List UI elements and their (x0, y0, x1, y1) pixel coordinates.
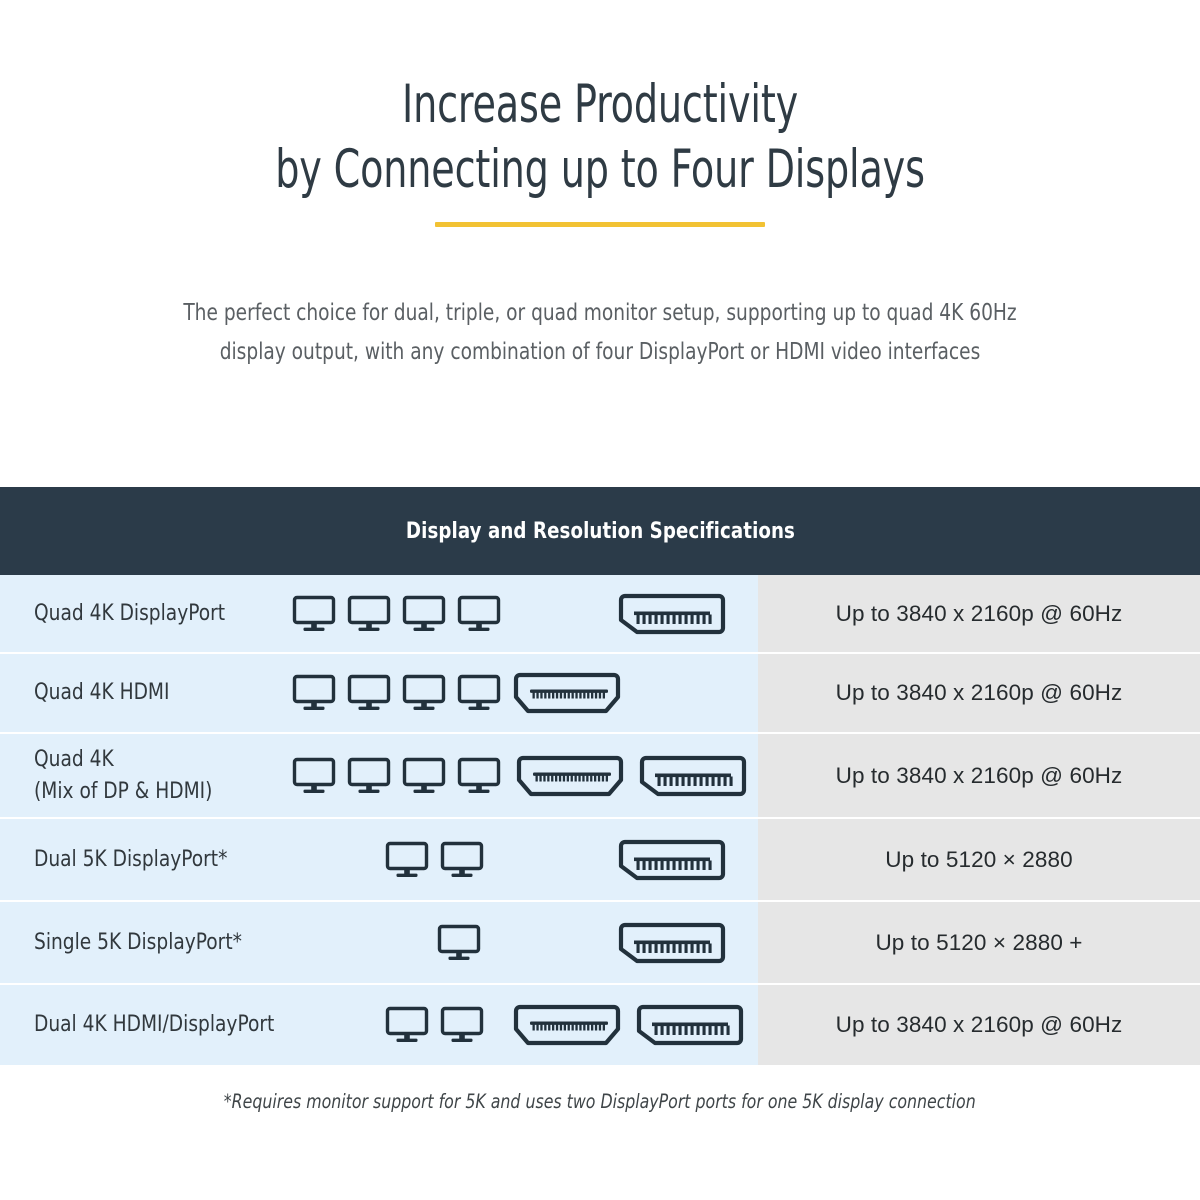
table-row: Dual 4K HDMI/DisplayPortUp to 3840 x 216… (0, 985, 1200, 1065)
subtitle-line-1: The perfect choice for dual, triple, or … (129, 293, 1071, 331)
subtitle-block: The perfect choice for dual, triple, or … (65, 293, 1135, 369)
footnote-text: *Requires monitor support for 5K and use… (224, 1090, 976, 1113)
resolution-value: Up to 5120 × 2880 + (875, 930, 1082, 956)
monitor-icon (347, 757, 391, 795)
subtitle-line-2: display output, with any combination of … (129, 332, 1071, 370)
monitor-icon-group (292, 595, 501, 633)
hdmi-connector-icon (512, 668, 622, 718)
spec-table: Display and Resolution Specifications Qu… (0, 487, 1200, 1065)
monitor-icon (292, 674, 336, 712)
displayport-connector-icon (617, 589, 727, 639)
row-label: Dual 4K HDMI/DisplayPort (34, 1009, 274, 1041)
table-row: Dual 5K DisplayPort*Up to 5120 × 2880 (0, 819, 1200, 902)
resolution-value: Up to 3840 x 2160p @ 60Hz (836, 680, 1123, 706)
hdmi-connector-icon (515, 751, 625, 801)
spec-table-header-title: Display and Resolution Specifications (405, 519, 794, 544)
connector-icon-group (512, 1000, 745, 1050)
hdmi-connector-icon (512, 1000, 622, 1050)
monitor-icon-group (292, 674, 501, 712)
spec-table-body: Quad 4K DisplayPortUp to 3840 x 2160p @ … (0, 575, 1200, 1065)
displayport-connector-icon (635, 1000, 745, 1050)
row-label: Dual 5K DisplayPort* (34, 844, 227, 876)
monitor-icon (385, 841, 429, 879)
row-config-cell: Quad 4K HDMI (0, 654, 758, 732)
monitor-icon-group (385, 841, 484, 879)
row-label: Single 5K DisplayPort* (34, 927, 242, 959)
title-block: Increase Productivity by Connecting up t… (0, 0, 1200, 227)
displayport-connector-icon (617, 835, 727, 885)
monitor-icon (385, 1006, 429, 1044)
row-config-cell: Single 5K DisplayPort* (0, 902, 758, 983)
row-resolution-cell: Up to 5120 × 2880 + (758, 902, 1200, 983)
resolution-value: Up to 3840 x 2160p @ 60Hz (836, 1012, 1123, 1038)
monitor-icon (347, 595, 391, 633)
monitor-icon (347, 674, 391, 712)
row-label: Quad 4K (Mix of DP & HDMI) (34, 744, 212, 808)
connector-icon-group (617, 835, 727, 885)
row-config-cell: Quad 4K DisplayPort (0, 575, 758, 652)
row-label: Quad 4K HDMI (34, 677, 169, 709)
table-row: Quad 4K DisplayPortUp to 3840 x 2160p @ … (0, 575, 1200, 654)
monitor-icon (402, 757, 446, 795)
row-resolution-cell: Up to 3840 x 2160p @ 60Hz (758, 575, 1200, 652)
table-row: Quad 4K HDMIUp to 3840 x 2160p @ 60Hz (0, 654, 1200, 734)
page-title-line-2: by Connecting up to Four Displays (120, 141, 1080, 198)
resolution-value: Up to 5120 × 2880 (885, 847, 1072, 873)
row-label: Quad 4K DisplayPort (34, 598, 225, 630)
monitor-icon (402, 674, 446, 712)
table-row: Single 5K DisplayPort*Up to 5120 × 2880 … (0, 902, 1200, 985)
row-resolution-cell: Up to 3840 x 2160p @ 60Hz (758, 985, 1200, 1065)
monitor-icon-group (292, 757, 501, 795)
monitor-icon (292, 757, 336, 795)
monitor-icon-group (437, 924, 481, 962)
title-accent-rule (435, 222, 765, 227)
row-resolution-cell: Up to 5120 × 2880 (758, 819, 1200, 900)
row-resolution-cell: Up to 3840 x 2160p @ 60Hz (758, 734, 1200, 817)
monitor-icon-group (385, 1006, 484, 1044)
monitor-icon (402, 595, 446, 633)
spec-table-header: Display and Resolution Specifications (0, 487, 1200, 575)
displayport-connector-icon (638, 751, 748, 801)
displayport-connector-icon (617, 918, 727, 968)
table-row: Quad 4K (Mix of DP & HDMI)Up to 3840 x 2… (0, 734, 1200, 819)
monitor-icon (457, 757, 501, 795)
row-config-cell: Dual 5K DisplayPort* (0, 819, 758, 900)
monitor-icon (440, 1006, 484, 1044)
monitor-icon (440, 841, 484, 879)
monitor-icon (457, 674, 501, 712)
connector-icon-group (617, 918, 727, 968)
infographic-page: Increase Productivity by Connecting up t… (0, 0, 1200, 1200)
connector-icon-group (617, 589, 727, 639)
connector-icon-group (512, 668, 622, 718)
resolution-value: Up to 3840 x 2160p @ 60Hz (836, 601, 1123, 627)
row-config-cell: Quad 4K (Mix of DP & HDMI) (0, 734, 758, 817)
page-title-line-1: Increase Productivity (120, 76, 1080, 133)
row-config-cell: Dual 4K HDMI/DisplayPort (0, 985, 758, 1065)
footnote: *Requires monitor support for 5K and use… (0, 1090, 1200, 1113)
resolution-value: Up to 3840 x 2160p @ 60Hz (836, 763, 1123, 789)
monitor-icon (292, 595, 336, 633)
row-resolution-cell: Up to 3840 x 2160p @ 60Hz (758, 654, 1200, 732)
monitor-icon (457, 595, 501, 633)
monitor-icon (437, 924, 481, 962)
connector-icon-group (515, 751, 748, 801)
